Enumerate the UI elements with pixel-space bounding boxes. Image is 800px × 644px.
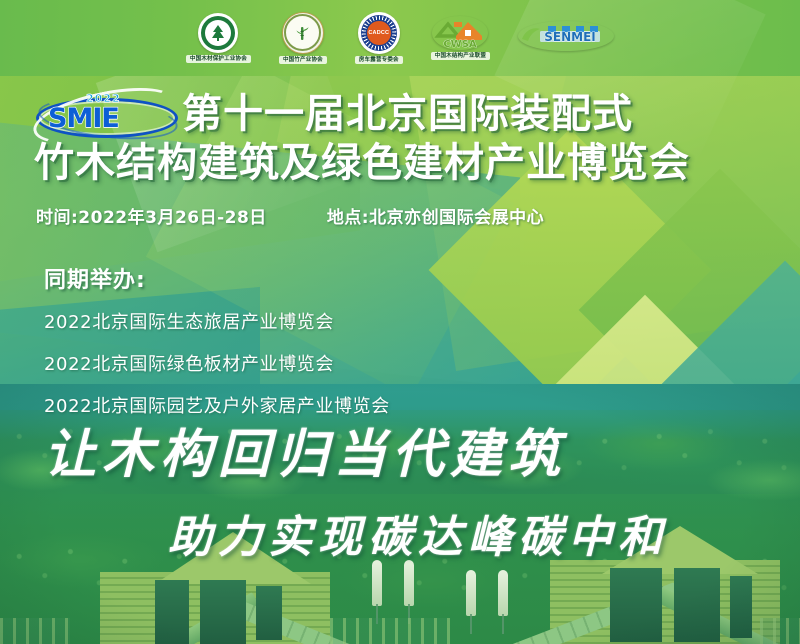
senmei-leaf-wordmark-icon: SENMEI: [518, 21, 614, 51]
sponsor-logo-4-caption: 中国木结构产业联盟: [431, 52, 490, 61]
event-venue: 地点:北京亦创国际会展中心: [327, 203, 544, 228]
sponsor-logo-1-caption: 中国木材保护工业协会: [186, 55, 251, 64]
exhibition-poster: 中国木材保护工业协会 中国竹产业协会: [0, 0, 800, 644]
smie-acronym: SMIE: [48, 103, 119, 134]
title-block: 2022 SMIE 第十一届北京国际装配式 竹木结构建筑及绿色建材产业博览会: [0, 88, 800, 185]
title-line-1: 第十一届北京国际装配式: [182, 93, 633, 136]
sponsor-logo-1[interactable]: 中国木材保护工业协会: [186, 13, 251, 64]
sponsor-logo-5[interactable]: SENMEI: [518, 21, 614, 55]
sponsor-logo-2[interactable]: 中国竹产业协会: [279, 12, 327, 65]
concurrent-event-item: 2022北京国际生态旅居产业博览会: [44, 308, 564, 334]
concurrent-events-heading: 同期举办:: [44, 262, 564, 294]
sponsor-logo-4[interactable]: CWSA 中国木结构产业联盟: [431, 16, 490, 61]
sponsor-logo-3[interactable]: CADCC 房车露营专委会: [355, 12, 403, 65]
cadcc-badge-icon: CADCC: [358, 12, 400, 54]
svg-text:CWSA: CWSA: [444, 39, 478, 50]
title-line-2: 竹木结构建筑及绿色建材产业博览会: [34, 142, 800, 185]
sponsor-logo-3-caption: 房车露营专委会: [355, 56, 403, 65]
pine-tree-in-circle-icon: [198, 13, 238, 53]
slogan-block: 让木构回归当代建筑 助力实现碳达峰碳中和: [0, 412, 800, 565]
event-date: 时间:2022年3月26日-28日: [36, 203, 267, 228]
concurrent-events-block: 同期举办: 2022北京国际生态旅居产业博览会 2022北京国际绿色板材产业博览…: [44, 262, 564, 434]
smie-oval-logo-icon: 2022 SMIE: [34, 90, 174, 138]
house-roof-cwsa-icon: CWSA: [432, 16, 488, 50]
slogan-line-1: 让木构回归当代建筑: [0, 412, 800, 487]
sponsor-logo-row: 中国木材保护工业协会 中国竹产业协会: [0, 0, 800, 76]
event-meta-row: 时间:2022年3月26日-28日 地点:北京亦创国际会展中心: [36, 203, 776, 228]
svg-text:SENMEI: SENMEI: [544, 30, 596, 44]
sponsor-logo-2-caption: 中国竹产业协会: [279, 56, 327, 65]
slogan-line-2: 助力实现碳达峰碳中和: [0, 501, 800, 565]
concurrent-event-item: 2022北京国际绿色板材产业博览会: [44, 350, 564, 376]
bamboo-seal-icon: [282, 12, 324, 54]
